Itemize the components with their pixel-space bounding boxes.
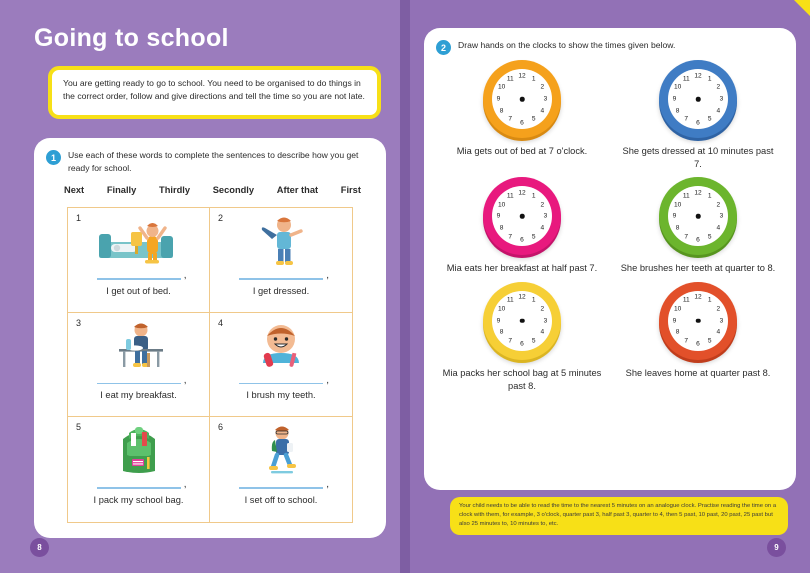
- word-bank-item[interactable]: Thirdly: [159, 185, 190, 195]
- answer-line[interactable]: [239, 278, 323, 280]
- right-page: 2 Draw hands on the clocks to show the t…: [410, 0, 810, 573]
- clock-numeral: 8: [676, 107, 680, 114]
- clock-grid: 121234567891011Mia gets out of bed at 7 …: [434, 60, 786, 393]
- clock-numeral: 12: [694, 294, 701, 301]
- clock-cell: 121234567891011She leaves home at quarte…: [610, 282, 786, 393]
- clock-numeral: 4: [717, 107, 721, 114]
- clock-numeral: 11: [683, 193, 690, 200]
- clock-numeral: 1: [708, 75, 712, 82]
- clock-numeral: 8: [500, 107, 504, 114]
- intro-text: You are getting ready to go to school. Y…: [63, 77, 366, 103]
- cell-number: 5: [76, 422, 81, 432]
- clock-numeral: 6: [696, 119, 700, 126]
- clock-face: 121234567891011: [668, 69, 728, 129]
- cell-number: 4: [218, 318, 223, 328]
- clock-numeral: 4: [541, 329, 545, 336]
- clock-numeral: 11: [507, 193, 514, 200]
- left-page: Going to school You are getting ready to…: [0, 0, 400, 573]
- parent-note-callout: Your child needs to be able to read the …: [450, 497, 788, 535]
- activity-2-instruction: Draw hands on the clocks to show the tim…: [458, 39, 675, 55]
- clock-caption: She gets dressed at 10 minutes past 7.: [618, 145, 778, 171]
- clock-numeral: 3: [720, 317, 724, 324]
- two-page-spread: Going to school You are getting ready to…: [0, 0, 810, 573]
- answer-line[interactable]: [97, 278, 181, 280]
- sequence-grid: 1: [67, 207, 353, 523]
- clock-numeral: 5: [708, 337, 712, 344]
- clock-numeral: 2: [541, 84, 545, 91]
- clock-cell: 121234567891011Mia packs her school bag …: [434, 282, 610, 393]
- cell-caption: I pack my school bag.: [94, 495, 184, 505]
- clock-numeral: 9: [497, 213, 501, 220]
- sequence-cell: 4: [210, 313, 352, 418]
- clock-numeral: 7: [684, 337, 688, 344]
- word-bank-item[interactable]: Finally: [107, 185, 136, 195]
- clock-numeral: 10: [674, 305, 681, 312]
- clock-numeral: 8: [500, 329, 504, 336]
- clock-caption: Mia eats her breakfast at half past 7.: [442, 262, 602, 275]
- child-walking-to-school-icon: [210, 421, 352, 479]
- clock-center-dot: [696, 318, 701, 323]
- clock-center-dot: [696, 214, 701, 219]
- clock-numeral: 9: [673, 213, 677, 220]
- clock-numeral: 6: [696, 236, 700, 243]
- activity-1-panel: 1 Use each of these words to complete th…: [34, 138, 386, 538]
- clock-numeral: 9: [673, 96, 677, 103]
- clock-numeral: 9: [497, 96, 501, 103]
- clock-numeral: 6: [520, 236, 524, 243]
- clock-numeral: 12: [694, 72, 701, 79]
- word-bank: Next Finally Thirdly Secondly After that…: [34, 175, 386, 195]
- intro-callout: You are getting ready to go to school. Y…: [48, 66, 381, 119]
- clock-face: 121234567891011: [492, 291, 552, 351]
- clock-face: 121234567891011: [492, 69, 552, 129]
- clock-numeral: 7: [684, 116, 688, 123]
- clock-numeral: 7: [508, 337, 512, 344]
- clock-numeral: 2: [541, 305, 545, 312]
- cell-caption: I get out of bed.: [106, 286, 171, 296]
- sequence-cell: 1: [68, 208, 210, 313]
- clock-numeral: 2: [717, 84, 721, 91]
- clock-numeral: 5: [708, 116, 712, 123]
- word-bank-item[interactable]: First: [341, 185, 361, 195]
- clock-center-dot: [520, 318, 525, 323]
- cell-number: 2: [218, 213, 223, 223]
- cell-number: 6: [218, 422, 223, 432]
- answer-line[interactable]: [97, 487, 181, 489]
- child-waking-in-bed-icon: [68, 212, 209, 270]
- clock-caption: Mia packs her school bag at 5 minutes pa…: [442, 367, 602, 393]
- cell-caption: I get dressed.: [253, 286, 309, 296]
- cell-caption: I eat my breakfast.: [100, 390, 176, 400]
- clock-face: 121234567891011: [668, 186, 728, 246]
- clock-numeral: 10: [674, 201, 681, 208]
- child-eating-breakfast-icon: [68, 317, 209, 375]
- clock-numeral: 3: [720, 96, 724, 103]
- book-spine: [400, 0, 410, 573]
- clock-center-dot: [520, 97, 525, 102]
- clock-numeral: 8: [500, 225, 504, 232]
- clock-numeral: 1: [532, 297, 536, 304]
- sequence-cell: 2: [210, 208, 352, 313]
- clock-numeral: 10: [498, 305, 505, 312]
- analogue-clock-icon[interactable]: 121234567891011: [659, 177, 737, 255]
- clock-numeral: 3: [544, 213, 548, 220]
- clock-numeral: 12: [518, 72, 525, 79]
- clock-numeral: 1: [708, 193, 712, 200]
- sequence-cell: 3: [68, 313, 210, 418]
- clock-numeral: 1: [532, 193, 536, 200]
- cell-number: 1: [76, 213, 81, 223]
- clock-numeral: 5: [532, 233, 536, 240]
- clock-numeral: 5: [532, 116, 536, 123]
- clock-numeral: 8: [676, 329, 680, 336]
- activity-2-header: 2 Draw hands on the clocks to show the t…: [424, 28, 796, 55]
- analogue-clock-icon[interactable]: 121234567891011: [483, 60, 561, 138]
- clock-numeral: 6: [696, 341, 700, 348]
- page-number-right: 9: [767, 538, 786, 557]
- clock-center-dot: [520, 214, 525, 219]
- clock-cell: 121234567891011Mia eats her breakfast at…: [434, 177, 610, 275]
- clock-numeral: 2: [541, 201, 545, 208]
- word-bank-item[interactable]: Next: [64, 185, 84, 195]
- clock-numeral: 10: [498, 84, 505, 91]
- analogue-clock-icon[interactable]: 121234567891011: [483, 177, 561, 255]
- clock-numeral: 6: [520, 341, 524, 348]
- clock-numeral: 4: [541, 225, 545, 232]
- clock-numeral: 9: [497, 317, 501, 324]
- sequence-cell: 6: [210, 417, 352, 522]
- clock-center-dot: [696, 97, 701, 102]
- clock-caption: Mia gets out of bed at 7 o'clock.: [442, 145, 602, 158]
- corner-tab: [794, 0, 810, 16]
- child-getting-dressed-icon: [210, 212, 352, 270]
- clock-face: 121234567891011: [668, 291, 728, 351]
- page-title: Going to school: [34, 24, 229, 53]
- clock-numeral: 8: [676, 225, 680, 232]
- child-brushing-teeth-icon: [210, 317, 352, 375]
- clock-numeral: 12: [694, 189, 701, 196]
- analogue-clock-icon[interactable]: 121234567891011: [483, 282, 561, 360]
- clock-numeral: 2: [717, 201, 721, 208]
- clock-numeral: 4: [717, 225, 721, 232]
- clock-numeral: 3: [720, 213, 724, 220]
- answer-line[interactable]: [239, 487, 323, 489]
- clock-caption: She brushes her teeth at quarter to 8.: [618, 262, 778, 275]
- activity-1-instruction: Use each of these words to complete the …: [68, 149, 373, 175]
- activity-1-number-badge: 1: [46, 150, 61, 165]
- activity-2-number-badge: 2: [436, 40, 451, 55]
- clock-cell: 121234567891011Mia gets out of bed at 7 …: [434, 60, 610, 171]
- clock-numeral: 5: [708, 233, 712, 240]
- clock-numeral: 12: [518, 189, 525, 196]
- clock-numeral: 12: [518, 294, 525, 301]
- clock-numeral: 10: [674, 84, 681, 91]
- clock-numeral: 11: [683, 75, 690, 82]
- cell-caption: I set off to school.: [245, 495, 318, 505]
- cell-caption: I brush my teeth.: [246, 390, 315, 400]
- clock-numeral: 4: [717, 329, 721, 336]
- clock-numeral: 9: [673, 317, 677, 324]
- activity-1-header: 1 Use each of these words to complete th…: [34, 138, 386, 175]
- clock-cell: 121234567891011She brushes her teeth at …: [610, 177, 786, 275]
- clock-face: 121234567891011: [492, 186, 552, 246]
- clock-numeral: 11: [683, 297, 690, 304]
- school-backpack-icon: [68, 421, 209, 479]
- clock-numeral: 7: [684, 233, 688, 240]
- word-bank-item[interactable]: After that: [277, 185, 318, 195]
- activity-2-panel: 2 Draw hands on the clocks to show the t…: [424, 28, 796, 490]
- clock-numeral: 3: [544, 96, 548, 103]
- answer-line[interactable]: [97, 383, 181, 385]
- clock-numeral: 5: [532, 337, 536, 344]
- clock-numeral: 2: [717, 305, 721, 312]
- clock-numeral: 1: [532, 75, 536, 82]
- clock-numeral: 10: [498, 201, 505, 208]
- clock-caption: She leaves home at quarter past 8.: [618, 367, 778, 380]
- analogue-clock-icon[interactable]: 121234567891011: [659, 60, 737, 138]
- clock-numeral: 11: [507, 75, 514, 82]
- cell-number: 3: [76, 318, 81, 328]
- clock-numeral: 7: [508, 233, 512, 240]
- clock-cell: 121234567891011She gets dressed at 10 mi…: [610, 60, 786, 171]
- answer-line[interactable]: [239, 383, 323, 385]
- clock-numeral: 11: [507, 297, 514, 304]
- clock-numeral: 4: [541, 107, 545, 114]
- word-bank-item[interactable]: Secondly: [213, 185, 254, 195]
- clock-numeral: 3: [544, 317, 548, 324]
- sequence-cell: 5: [68, 417, 210, 522]
- clock-numeral: 7: [508, 116, 512, 123]
- analogue-clock-icon[interactable]: 121234567891011: [659, 282, 737, 360]
- page-number-left: 8: [30, 538, 49, 557]
- clock-numeral: 6: [520, 119, 524, 126]
- clock-numeral: 1: [708, 297, 712, 304]
- parent-note-text: Your child needs to be able to read the …: [459, 502, 779, 529]
